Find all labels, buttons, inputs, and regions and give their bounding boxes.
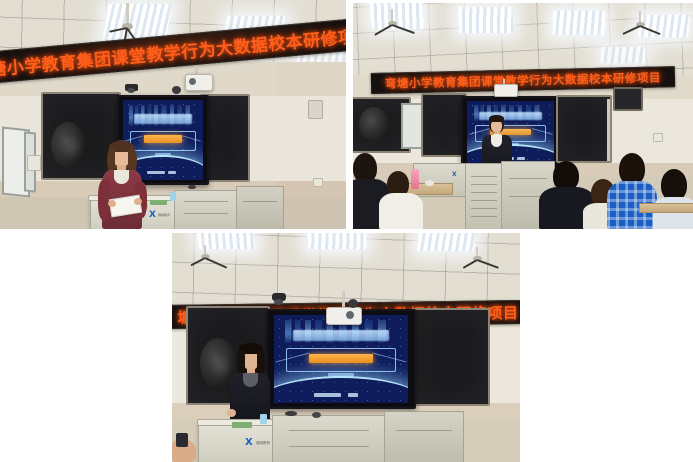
presenter-hand bbox=[227, 409, 236, 417]
wall-box bbox=[27, 155, 41, 171]
cabinet-seam bbox=[471, 208, 497, 209]
slide-highlight-bar bbox=[309, 354, 374, 363]
cabinet-seam bbox=[471, 184, 497, 185]
foreground-phone bbox=[176, 433, 188, 447]
blackboard-right bbox=[556, 95, 612, 163]
fan-blade bbox=[205, 257, 228, 269]
desk-item bbox=[188, 185, 196, 189]
ceiling-fan bbox=[458, 247, 502, 281]
wall-outlet bbox=[313, 178, 323, 187]
ceiling-projector bbox=[493, 79, 517, 99]
desk-item bbox=[285, 411, 297, 416]
water-cup bbox=[170, 192, 176, 201]
audience-body bbox=[653, 197, 693, 229]
photo-top-left: 弯塘小学教育集团课堂教学行为大数据校本研修项目 bbox=[0, 0, 346, 229]
projector-lens bbox=[346, 311, 354, 319]
cabinet-seam bbox=[243, 201, 276, 202]
podium-logo-text: 锡成教育 bbox=[158, 214, 170, 217]
presenter-collar bbox=[114, 170, 129, 184]
cabinet-seam bbox=[184, 201, 229, 202]
desk-item bbox=[312, 412, 321, 418]
projector-body bbox=[326, 307, 362, 325]
presenter-hand bbox=[134, 198, 142, 205]
slide-footer-bar bbox=[168, 171, 176, 174]
fan-blade bbox=[463, 259, 478, 269]
presenter bbox=[94, 140, 152, 229]
equipment-cabinet bbox=[384, 411, 464, 462]
blackboard-right bbox=[412, 308, 490, 406]
slide-title-bar bbox=[134, 114, 192, 124]
slide-title-bar bbox=[293, 330, 390, 341]
ceiling-light-panel bbox=[458, 7, 513, 33]
cabinet-seam bbox=[289, 446, 370, 447]
fan-blade bbox=[477, 259, 499, 269]
podium-logo-text: 锡成教育 bbox=[256, 442, 270, 446]
wall-monitor bbox=[613, 87, 643, 111]
cabinet-seam bbox=[471, 200, 497, 201]
cabinet-seam bbox=[471, 216, 497, 217]
podium-logo-x: X bbox=[245, 438, 253, 448]
photo-top-right: 弯塘小学教育集团课堂教学行为大数据校本研修项目 bbox=[353, 3, 693, 229]
audience-body bbox=[379, 193, 423, 229]
slide-footer-bar bbox=[348, 393, 359, 397]
dome-camera-lens bbox=[274, 299, 283, 305]
audience-member-plaid bbox=[607, 153, 657, 229]
equipment-cabinet bbox=[174, 190, 238, 229]
ceiling-fan bbox=[192, 245, 232, 279]
water-cup bbox=[260, 414, 267, 424]
slide-footer-bar bbox=[314, 393, 341, 397]
wall-pipe bbox=[607, 99, 610, 161]
dome-camera-lens bbox=[127, 88, 135, 93]
fan-blade bbox=[640, 25, 661, 35]
cabinet-seam bbox=[471, 176, 497, 177]
audience-member bbox=[381, 171, 421, 229]
cabinet-seam bbox=[289, 430, 370, 431]
chalk-smudge bbox=[61, 134, 83, 160]
cabinet-seam bbox=[471, 192, 497, 193]
presenter-hand bbox=[108, 200, 116, 207]
fan-blade bbox=[374, 24, 392, 36]
ceiling-light-panel bbox=[553, 11, 605, 35]
fan-blade bbox=[622, 25, 640, 35]
presenter-hair-front bbox=[489, 115, 504, 122]
wall-speaker bbox=[308, 100, 323, 119]
equipment-cabinet bbox=[465, 163, 503, 229]
fan-blade bbox=[190, 257, 205, 266]
ceiling-projector bbox=[324, 291, 364, 329]
computer-mouse bbox=[425, 180, 434, 186]
projector-lens bbox=[189, 78, 196, 85]
cabinet-seam bbox=[396, 430, 452, 431]
ceiling-fan bbox=[621, 11, 665, 51]
photo-bottom-center: 塘小学教育集团课堂教学行为大数据校本研修项目 bbox=[172, 233, 520, 462]
wall-outlet bbox=[653, 133, 663, 142]
slide-arc-graphic bbox=[274, 376, 408, 403]
podium-logo-x: X bbox=[452, 172, 457, 178]
audience-member bbox=[653, 169, 693, 229]
equipment-cabinet bbox=[236, 186, 284, 229]
projector-body bbox=[494, 84, 518, 97]
green-folder bbox=[150, 200, 167, 205]
wall-camera bbox=[172, 86, 181, 94]
cabinet-seam bbox=[184, 213, 229, 214]
ceiling-projector bbox=[183, 66, 213, 92]
photo-collage: 弯塘小学教育集团课堂教学行为大数据校本研修项目 bbox=[0, 0, 693, 462]
ceiling-fan bbox=[377, 9, 417, 49]
equipment-cabinet bbox=[272, 415, 386, 462]
student-desk bbox=[639, 203, 693, 213]
presenter-collar bbox=[491, 135, 502, 147]
fan-pole bbox=[126, 3, 129, 25]
chalk-smudge bbox=[359, 107, 389, 141]
presenter bbox=[224, 343, 276, 427]
fan-blade bbox=[392, 24, 415, 34]
slide-footer-bar bbox=[517, 157, 525, 160]
wall-camera bbox=[348, 299, 358, 308]
presenter-collar bbox=[243, 373, 258, 387]
green-folder bbox=[232, 422, 252, 428]
ceiling-light-panel bbox=[308, 233, 367, 249]
